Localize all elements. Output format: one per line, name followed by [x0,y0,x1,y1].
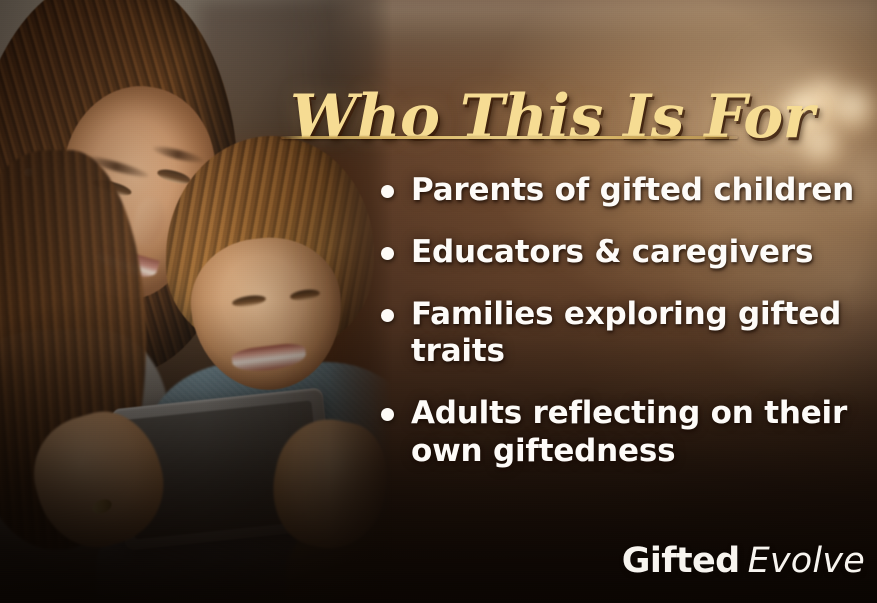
list-item-label: Families exploring gifted traits [411,296,863,372]
brand-logo-mark: Gifted [622,541,740,581]
promo-card: Who This Is For Parents of gifted childr… [0,0,877,603]
audience-bullet-list: Parents of gifted children Educators & c… [381,172,877,471]
list-item: Adults reflecting on their own giftednes… [381,395,877,471]
bullet-dot-icon [381,185,394,198]
bullet-dot-icon [381,309,394,322]
list-item: Parents of gifted children [381,172,877,210]
bullet-dot-icon [381,408,394,421]
bullet-dot-icon [381,247,394,260]
list-item-label: Adults reflecting on their own giftednes… [411,395,863,471]
list-item-label: Educators & caregivers [411,234,813,272]
list-item: Families exploring gifted traits [381,296,877,372]
list-item: Educators & caregivers [381,234,877,272]
gold-divider-rule [281,136,738,139]
list-item-label: Parents of gifted children [411,172,854,210]
content-column: Who This Is For Parents of gifted childr… [281,0,877,603]
brand-logo-word: Evolve [748,541,865,581]
brand-logo: GiftedEvolve [622,544,865,579]
page-title: Who This Is For [290,87,750,148]
